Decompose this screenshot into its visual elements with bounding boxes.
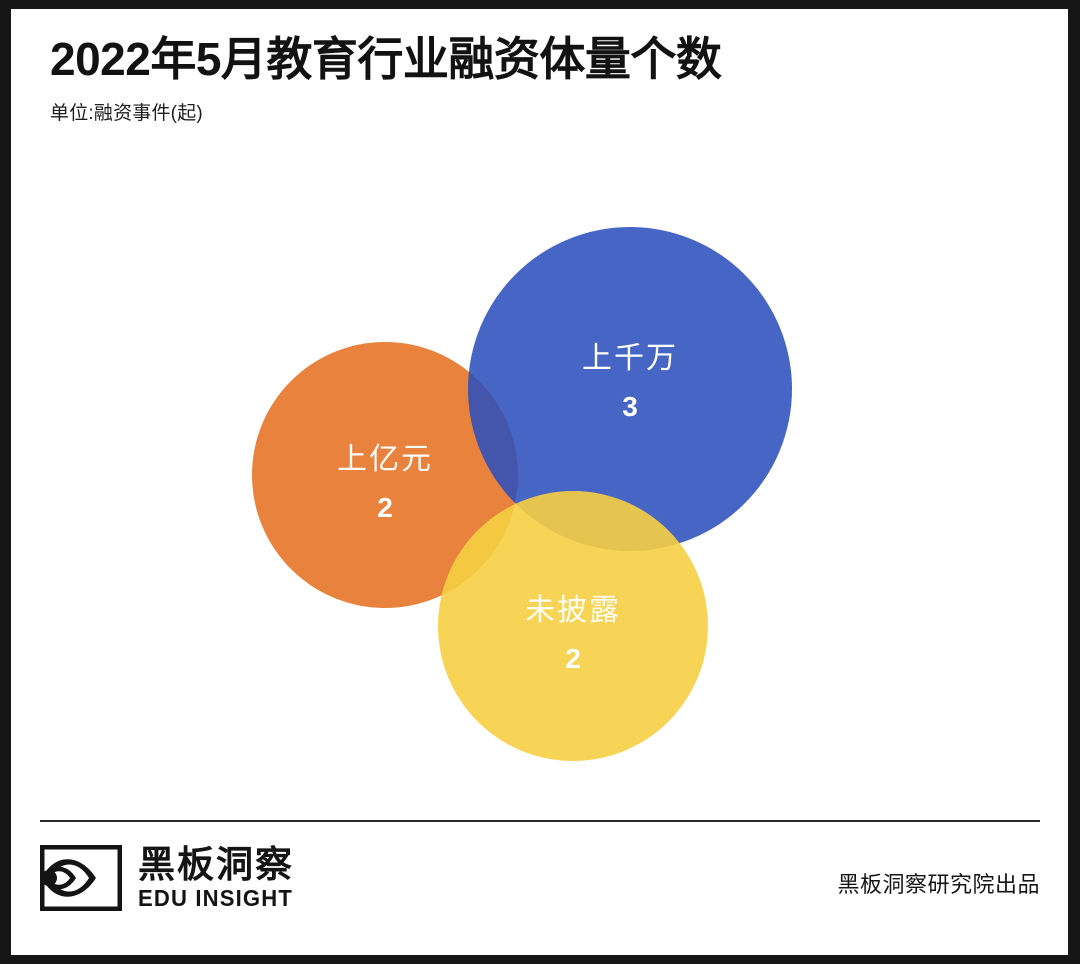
footer: 黑板洞察 EDU INSIGHT 黑板洞察研究院出品 — [40, 845, 1040, 937]
venn-circles — [252, 227, 792, 761]
venn-diagram: 上亿元 2 上千万 3 未披露 2 — [11, 9, 1068, 955]
brand-name-cn: 黑板洞察 — [138, 846, 299, 884]
brand-name-en: EDU INSIGHT — [138, 887, 293, 910]
eye-logo-icon — [40, 845, 122, 911]
poster-frame: 2022年5月教育行业融资体量个数 单位:融资事件(起) 上亿元 2 上千万 3 — [0, 0, 1080, 964]
footer-divider — [40, 820, 1040, 822]
brand-text: 黑板洞察 EDU INSIGHT — [138, 846, 299, 909]
venn-circle-上千万[interactable] — [468, 227, 792, 551]
venn-svg — [11, 9, 1068, 955]
poster-card: 2022年5月教育行业融资体量个数 单位:融资事件(起) 上亿元 2 上千万 3 — [11, 9, 1068, 955]
footer-credit: 黑板洞察研究院出品 — [837, 867, 1040, 899]
brand-logo: 黑板洞察 EDU INSIGHT — [40, 845, 299, 911]
venn-circle-未披露[interactable] — [438, 491, 708, 761]
